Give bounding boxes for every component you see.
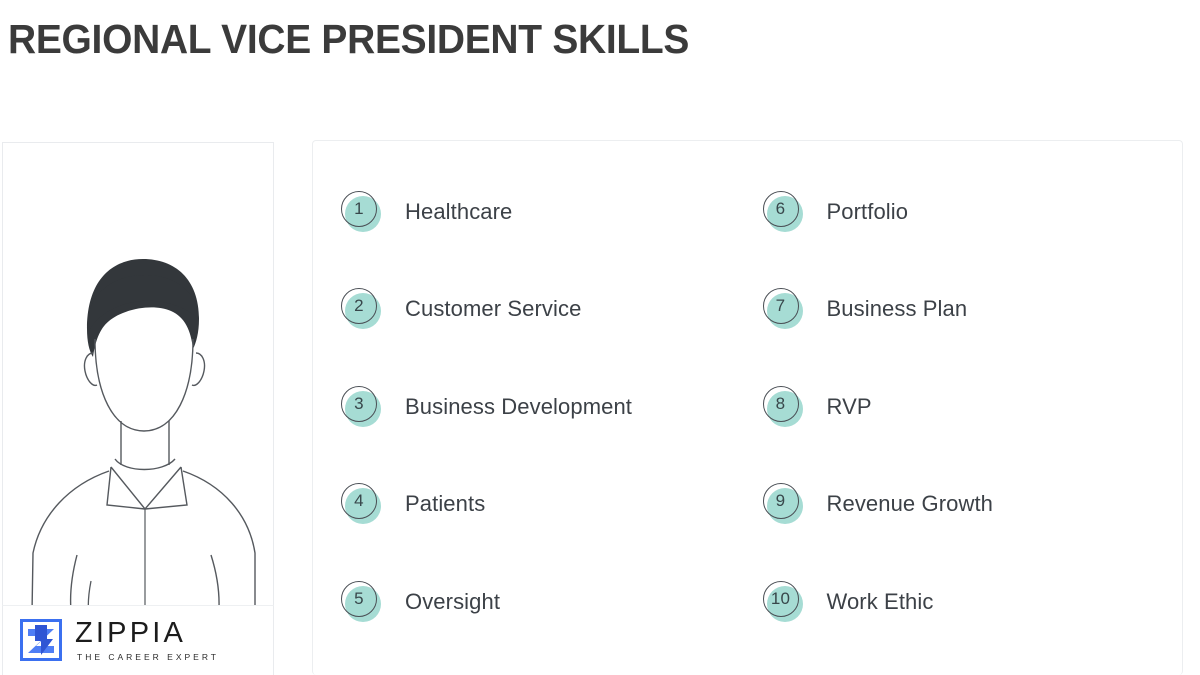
skill-label: Business Plan — [827, 296, 968, 322]
zippia-logo[interactable]: ZIPPIA THE CAREER EXPERT — [19, 618, 219, 662]
hair-shape — [87, 259, 199, 357]
skill-label: Oversight — [405, 589, 500, 615]
skill-item-2[interactable]: 2 Customer Service — [339, 261, 761, 359]
skill-item-1[interactable]: 1 Healthcare — [339, 163, 761, 261]
skill-label: Revenue Growth — [827, 491, 994, 517]
skill-item-4[interactable]: 4 Patients — [339, 456, 761, 554]
badge-number: 4 — [341, 483, 377, 519]
skill-label: RVP — [827, 394, 872, 420]
badge-number: 2 — [341, 288, 377, 324]
skill-number-badge: 6 — [761, 190, 805, 234]
skill-number-badge: 2 — [339, 287, 383, 331]
skill-label: Work Ethic — [827, 589, 934, 615]
skill-item-5[interactable]: 5 Oversight — [339, 553, 761, 651]
logo-band: ZIPPIA THE CAREER EXPERT — [2, 605, 274, 675]
page-title: REGIONAL VICE PRESIDENT SKILLS — [8, 16, 689, 63]
badge-number: 5 — [341, 581, 377, 617]
zippia-wordmark: ZIPPIA THE CAREER EXPERT — [75, 619, 219, 662]
collar-v — [111, 467, 181, 509]
skill-number-badge: 1 — [339, 190, 383, 234]
badge-number: 1 — [341, 191, 377, 227]
ear-left — [84, 353, 97, 385]
skills-infographic: REGIONAL VICE PRESIDENT SKILLS — [0, 0, 1200, 675]
skill-label: Patients — [405, 491, 485, 517]
ear-right — [192, 353, 205, 385]
badge-number: 9 — [763, 483, 799, 519]
collar-left — [107, 467, 145, 509]
skill-number-badge: 8 — [761, 385, 805, 429]
face-outline — [95, 339, 193, 431]
skill-item-9[interactable]: 9 Revenue Growth — [761, 456, 1183, 554]
skill-item-8[interactable]: 8 RVP — [761, 358, 1183, 456]
badge-number: 8 — [763, 386, 799, 422]
skill-number-badge: 5 — [339, 580, 383, 624]
skill-number-badge: 4 — [339, 482, 383, 526]
skill-item-3[interactable]: 3 Business Development — [339, 358, 761, 456]
logo-tagline: THE CAREER EXPERT — [77, 653, 219, 662]
illustration-panel — [2, 142, 274, 675]
skill-label: Business Development — [405, 394, 632, 420]
badge-number: 7 — [763, 288, 799, 324]
skill-number-badge: 10 — [761, 580, 805, 624]
neck-base — [115, 459, 175, 470]
skill-label: Healthcare — [405, 199, 512, 225]
badge-number: 6 — [763, 191, 799, 227]
skill-number-badge: 3 — [339, 385, 383, 429]
skills-grid: 1 Healthcare 6 Portfolio 2 Customer S — [313, 141, 1182, 675]
hair-top — [89, 275, 199, 331]
badge-number: 10 — [763, 581, 799, 617]
zippia-z-mark-icon — [19, 618, 63, 662]
skill-item-7[interactable]: 7 Business Plan — [761, 261, 1183, 359]
badge-number: 3 — [341, 386, 377, 422]
skill-number-badge: 9 — [761, 482, 805, 526]
skill-label: Customer Service — [405, 296, 581, 322]
logo-word: ZIPPIA — [75, 619, 219, 648]
skill-item-10[interactable]: 10 Work Ethic — [761, 553, 1183, 651]
skill-item-6[interactable]: 6 Portfolio — [761, 163, 1183, 261]
skills-card: 1 Healthcare 6 Portfolio 2 Customer S — [312, 140, 1183, 675]
skill-label: Portfolio — [827, 199, 909, 225]
skill-number-badge: 7 — [761, 287, 805, 331]
collar-right — [145, 467, 187, 509]
